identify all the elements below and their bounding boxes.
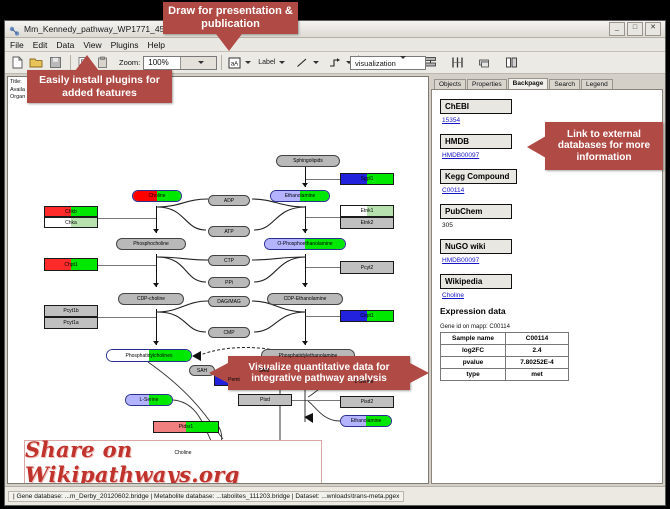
node-label: O-Phosphoethanolamine [277,241,332,247]
metabolite-node-dag-mag[interactable]: DAG/MAG [208,296,250,307]
save-icon[interactable] [47,55,63,71]
db-header: NuGO wiki [440,239,512,254]
metabolite-node-adp[interactable]: ADP [208,195,250,206]
node-label: Choline [175,450,192,456]
node-label: Phosphatidylethanolamine [279,353,338,359]
expression-table: Sample nameC00114log2FC2.4pvalue7.80252E… [440,332,569,381]
metabolite-node-o-phosphoethanolamine[interactable]: O-Phosphoethanolamine [264,238,346,250]
expr-key: type [441,369,506,381]
gene-node-sgpl1[interactable]: Sgpl1 [340,173,394,185]
callout-plugins-arrow [75,55,99,71]
node-label: Ethanolamine [285,193,316,199]
font-style-dropdown[interactable]: aA [226,55,251,71]
meta-organism: Organ [10,94,25,102]
new-file-icon[interactable] [9,55,25,71]
maximize-button[interactable]: □ [627,22,643,36]
gene-node-chka[interactable]: Chka [44,217,98,228]
zoom-label: Zoom: [119,58,140,67]
interaction-icon[interactable] [327,55,343,71]
gene-node-pcyt2[interactable]: Pcyt2 [340,261,394,274]
edge-chk-main [98,218,156,219]
db-header: ChEBI [440,99,512,114]
gene-node-cept1[interactable]: Cept1 [340,310,394,322]
callout-draw: Draw for presentation & publication [163,2,298,34]
metabolite-node-phosphatidylcholines[interactable]: Phosphatidylcholines [106,349,192,362]
db-header: Wikipedia [440,274,512,289]
edge-pisd-right [292,400,340,401]
status-bar: | Gene database: ...m_Derby_20120602.bri… [5,486,665,505]
node-label: Pisd [260,397,270,403]
expr-key: log2FC [441,345,506,357]
menu-item-help[interactable]: Help [148,40,165,50]
minimize-button[interactable]: _ [609,22,625,36]
callout-plugins: Easily install plugins for added feature… [27,70,172,103]
node-label: CMP [223,330,234,336]
expr-value: met [506,369,569,381]
group-icon[interactable] [476,55,492,71]
node-label: SAH [197,368,207,374]
callout-visualize-arrow-left [209,363,228,383]
node-label: Phosphocholine [133,241,169,247]
tab-backpage[interactable]: Backpage [508,78,549,90]
arrowhead-7 [302,341,308,345]
node-label: SAM [259,368,270,374]
visualization-value: visualization [351,59,396,68]
edge-cept1-main [306,316,340,317]
status-text: | Gene database: ...m_Derby_20120602.bri… [8,491,404,502]
arrowhead-3 [153,341,159,345]
node-label: CDP-choline [137,296,165,302]
db-group-nugo-wiki: NuGO wikiHMDB00097 [440,236,662,264]
edge-sgpl1-main [306,179,340,180]
toolbar-separator-1 [70,55,71,70]
callout-link-text: Link to external databases for more info… [548,129,660,164]
open-folder-icon[interactable] [28,55,44,71]
window-buttons: _ □ ✕ [609,22,661,36]
toolbar-separator-2 [221,55,222,70]
db-group-chebi: ChEBI15354 [440,96,662,124]
metabolite-node-l-serine-left[interactable]: L-Serine [125,394,173,406]
pathway-meta: Title: Availa Organ [10,79,25,102]
line-icon[interactable] [294,55,310,71]
tab-search[interactable]: Search [549,79,580,90]
node-label: Ethanolamine [351,418,382,424]
db-header: PubChem [440,204,512,219]
db-value: 305 [442,222,662,229]
menu-item-data[interactable]: Data [56,40,74,50]
expression-heading: Expression data [440,306,662,316]
label-tool-dropdown[interactable]: Label [258,59,285,66]
menu-item-view[interactable]: View [83,40,101,50]
node-label: Phosphatidylcholines [126,353,173,359]
node-label: Pisd2 [361,399,374,405]
tab-objects[interactable]: Objects [434,79,466,90]
gene-node-ptdsr1[interactable]: Ptdsr1 [153,421,219,433]
node-label: Ptdsr1 [179,424,193,430]
gene-node-etnk1[interactable]: Etnk1 [340,205,394,217]
metabolite-node-sphingolipids[interactable]: Sphingolipids [276,155,340,167]
table-row: Sample nameC00114 [441,333,569,345]
gene-id-on-mapp: Gene id on mapp: C00114 [440,324,662,330]
callout-visualize: Visualize quantitative data for integrat… [228,356,410,390]
metabolite-node-ethanolamine[interactable]: Ethanolamine [270,190,330,202]
node-label: Chpt1 [64,262,77,268]
gene-node-pcyt1b[interactable]: Pcyt1b [44,305,98,317]
node-label: Choline [149,193,166,199]
pathvisio-icon [9,24,20,35]
metabolite-node-phosphocholine[interactable]: Phosphocholine [116,238,186,250]
share-banner: Share on Wikipathways.org [24,440,322,484]
callout-plugins-text: Easily install plugins for added feature… [27,74,172,98]
arrowhead-4 [302,183,308,187]
node-label: Pemt [228,377,240,383]
pathway-canvas[interactable]: Title: Availa Organ [7,76,429,484]
node-label: Pcyt1b [63,308,78,314]
metabolite-node-ppi[interactable]: PPi [208,277,250,288]
screenshot-root: Mm_Kennedy_pathway_WP1771_45176.gpml _ □… [0,0,670,509]
metabolite-node-choline-top[interactable]: Choline [132,190,182,202]
db-link[interactable]: C00114 [442,187,662,194]
gene-node-pcyt1a[interactable]: Pcyt1a [44,317,98,329]
edge-chpt1-main [98,265,156,266]
db-header: HMDB [440,134,512,149]
node-label: Chkb [65,209,77,215]
node-label: Etnk2 [361,220,374,226]
table-row: pvalue7.80252E-4 [441,357,569,369]
zoom-select[interactable]: 100% [143,56,217,70]
expr-value: 7.80252E-4 [506,357,569,369]
expr-value: C00114 [506,333,569,345]
visualization-select[interactable]: visualization [350,56,426,70]
edge-cdpethn-ptdethn [305,309,306,345]
callout-draw-arrow [216,34,242,51]
node-label: L-Serine [355,379,374,385]
menu-item-edit[interactable]: Edit [33,40,48,50]
node-label: L-Serine [140,397,159,403]
chevron-down-icon[interactable] [180,57,217,69]
gene-node-etnk2[interactable]: Etnk2 [340,217,394,229]
menu-item-plugins[interactable]: Plugins [111,40,139,50]
edge-pcyt1-main [98,317,156,318]
distribute-icon[interactable] [449,55,465,71]
table-row: log2FC2.4 [441,345,569,357]
node-label: ADP [224,198,234,204]
callout-link: Link to external databases for more info… [545,122,663,170]
arrowhead-1 [153,229,159,233]
node-label: Sphingolipids [293,158,323,164]
edge-etnk-main [306,217,340,218]
arrowhead-5 [302,229,308,233]
table-row: typemet [441,369,569,381]
node-label: CTP [224,258,234,264]
tab-legend[interactable]: Legend [581,79,613,90]
menu-bar: File Edit Data View Plugins Help [5,38,665,52]
node-label: Etnk1 [361,208,374,214]
node-label: Pcyt1a [63,320,78,326]
info-tabs: Objects Properties Backpage Search Legen… [431,76,663,89]
label-tool-label: Label [258,59,275,66]
order-icon[interactable] [503,55,519,71]
node-label: Sgpl1 [361,176,374,182]
interaction-tool-dropdown[interactable] [327,55,352,71]
arrowhead-2 [153,283,159,287]
metabolite-node-atp[interactable]: ATP [208,226,250,237]
arrowhead-6 [302,283,308,287]
title-bar: Mm_Kennedy_pathway_WP1771_45176.gpml _ □… [5,21,665,38]
metabolite-node-ethanolamine-right[interactable]: Ethanolamine [340,415,392,427]
edge-cdpcholine-ptdcholine [156,309,157,345]
tab-properties[interactable]: Properties [467,79,507,90]
node-label: Pcyt2 [361,265,374,271]
db-group-wikipedia: WikipediaCholine [440,271,662,299]
gene-node-chpt1[interactable]: Chpt1 [44,258,98,271]
db-link[interactable]: HMDB00097 [442,257,662,264]
db-group-kegg-compound: Kegg CompoundC00114 [440,166,662,194]
chevron-down-icon-viz[interactable] [396,59,425,68]
edge-pcyt2-main [306,267,340,268]
metabolite-node-ctp[interactable]: CTP [208,255,250,266]
node-label: Cept1 [360,313,373,319]
node-label: Chka [65,220,77,226]
font-style-icon[interactable]: aA [226,55,242,71]
callout-visualize-arrow-right [410,363,429,383]
gene-node-pisd[interactable]: Pisd [238,394,292,406]
expr-value: 2.4 [506,345,569,357]
node-label: CDP-Ethanolamine [284,296,327,302]
db-link[interactable]: Choline [442,292,662,299]
meta-title: Title: [10,79,25,87]
node-label: ATP [224,229,233,235]
metabolite-node-cmp[interactable]: CMP [208,327,250,338]
callout-draw-text: Draw for presentation & publication [163,5,298,30]
line-tool-dropdown[interactable] [294,55,319,71]
metabolite-node-cdp-ethanolamine[interactable]: CDP-Ethanolamine [267,293,343,305]
svg-text:aA: aA [231,61,238,67]
close-button[interactable]: ✕ [645,22,661,36]
share-banner-text: Share on Wikipathways.org [25,437,321,484]
db-header: Kegg Compound [440,169,517,184]
metabolite-node-cdp-choline[interactable]: CDP-choline [118,293,184,305]
db-group-pubchem: PubChem305 [440,201,662,229]
menu-item-file[interactable]: File [10,40,24,50]
zoom-value: 100% [144,58,180,67]
node-label: PPi [225,280,233,286]
meta-availability: Availa [10,87,25,95]
expr-key: pvalue [441,357,506,369]
callout-link-arrow [527,136,546,158]
expr-key: Sample name [441,333,506,345]
node-label: DAG/MAG [217,299,241,305]
gene-node-pisd2[interactable]: Pisd2 [340,396,394,408]
gene-node-chkb[interactable]: Chkb [44,206,98,217]
